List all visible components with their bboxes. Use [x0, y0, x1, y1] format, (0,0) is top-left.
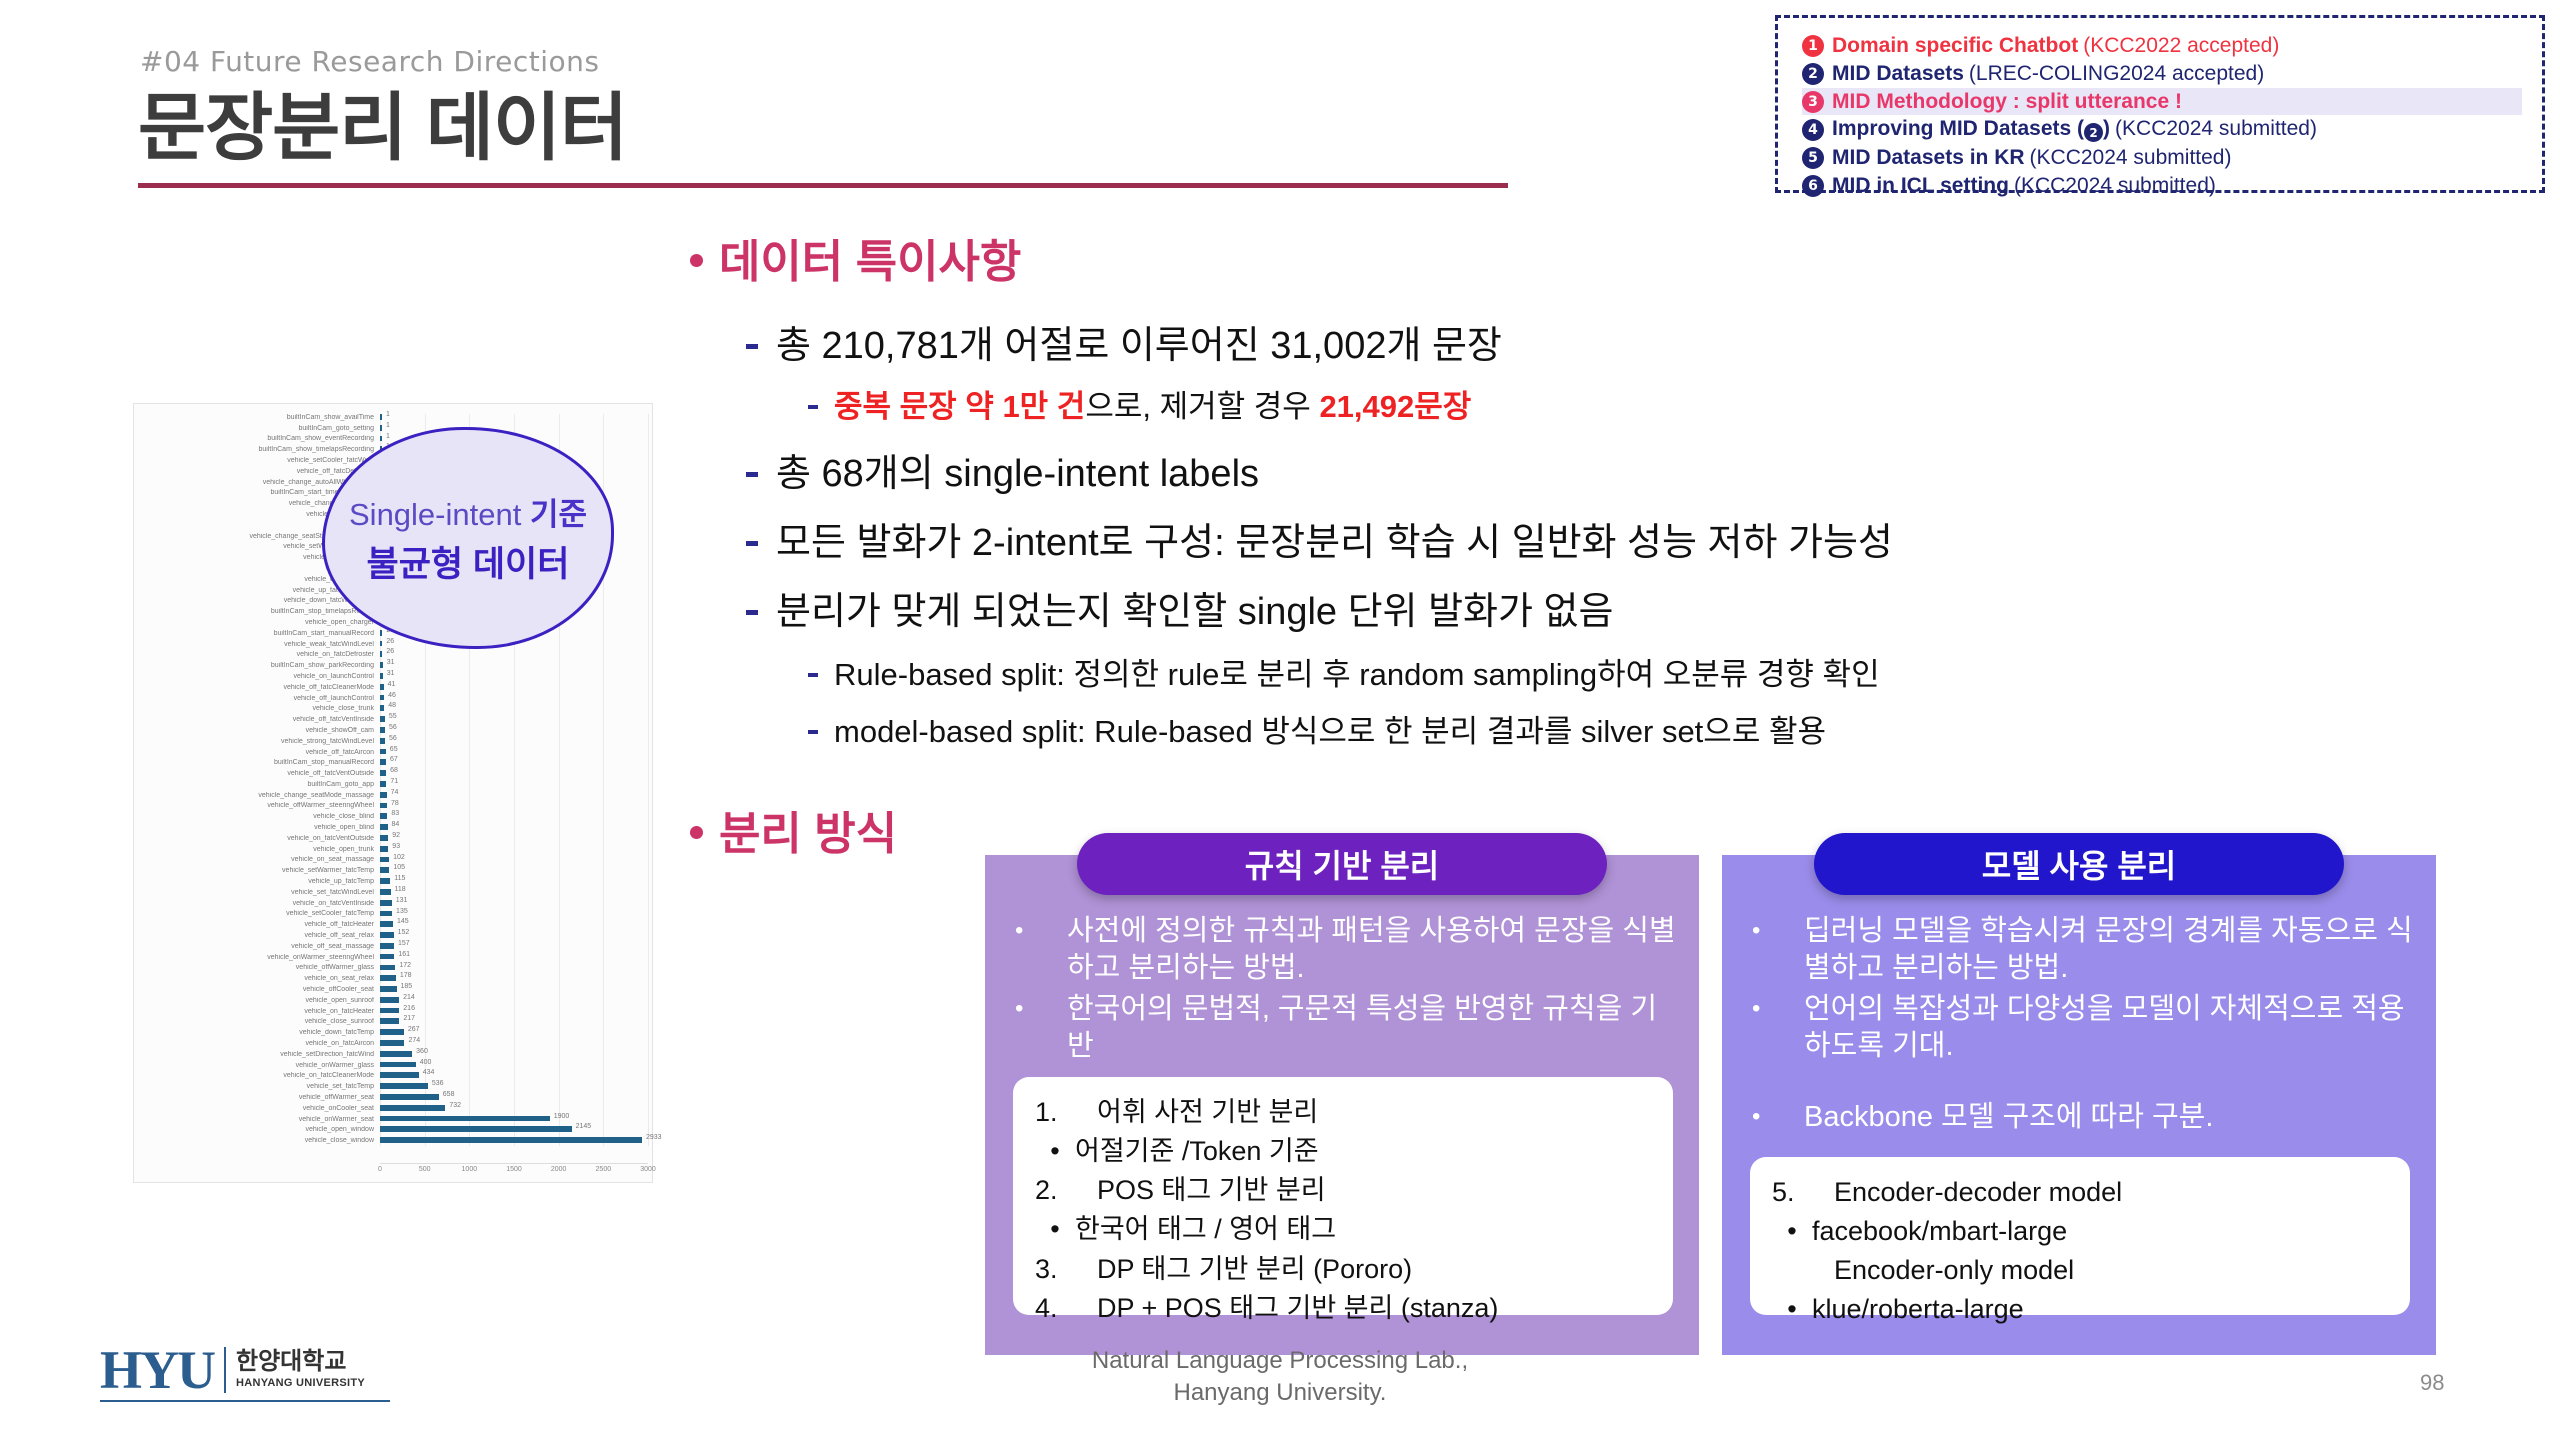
chart-bar-value: 274 — [408, 1037, 420, 1044]
chart-bar-label: builtInCam_stop_timelapsRecord — [134, 608, 380, 615]
chart-bar-value: 46 — [388, 692, 396, 699]
chart-bar — [380, 911, 392, 917]
bubble-en: Single-intent — [349, 497, 530, 532]
section1-label: 데이터 특이사항 — [719, 225, 1021, 290]
chart-bar-track: 48 — [380, 703, 652, 714]
panel-bullet: •언어의 복잡성과 다양성을 모델이 자체적으로 적용하도록 기대. — [1752, 991, 2416, 1065]
legend-item-label: MID in ICL setting(KCC2024 submitted) — [1832, 174, 2216, 198]
chart-bar — [380, 1008, 399, 1014]
legend-item-label: MID Datasets in KR(KCC2024 submitted) — [1832, 146, 2231, 170]
chart-bar-label: vehicle_open_charger — [134, 619, 380, 626]
chart-bar-value: 214 — [403, 994, 415, 1001]
chart-bar — [380, 965, 395, 971]
dash-icon — [746, 541, 758, 546]
bullet-two-intent: 모든 발화가 2-intent로 구성: 문장분리 학습 시 일반화 성능 저하… — [746, 511, 2490, 566]
chart-bar-row: vehicle_open_window2145 — [134, 1124, 652, 1135]
chart-bar-label: vehicle_off_seat_massage — [134, 943, 380, 950]
chart-bar — [380, 878, 390, 884]
chart-bar — [380, 1105, 445, 1111]
chart-bar — [380, 684, 384, 690]
chart-bar-value: 78 — [391, 800, 399, 807]
bullet-dot-icon: • — [1035, 1210, 1075, 1249]
chart-bar-value: 67 — [390, 756, 398, 763]
chart-bar — [380, 695, 384, 701]
chart-bar-label: builtInCam_start_manualRecord — [134, 630, 380, 637]
chart-bar-value: 145 — [397, 918, 409, 925]
chart-bar-value: 185 — [401, 983, 413, 990]
chart-bar-label: builtInCam_show_eventRecording — [134, 435, 380, 442]
chart-bar — [380, 857, 389, 863]
hyu-logo: HYU 한양대학교 HANYANG UNIVERSITY — [100, 1340, 390, 1402]
chart-bar-value: 1900 — [554, 1113, 570, 1120]
panel-bullet: •사전에 정의한 규칙과 패턴을 사용하여 문장을 식별하고 분리하는 방법. — [1015, 913, 1679, 987]
chart-bar — [380, 1051, 412, 1057]
chart-bar-label: vehicle_on_fatcCleanerMode — [134, 1072, 380, 1079]
chart-bar-value: 118 — [395, 886, 406, 893]
chart-bar — [380, 824, 388, 830]
chart-bar-track: 152 — [380, 930, 652, 941]
chart-bar-row: vehicle_onCooler_seat732 — [134, 1103, 652, 1114]
chart-bar — [380, 943, 394, 949]
chart-bar-track: 135 — [380, 909, 652, 920]
chart-bar — [380, 997, 399, 1003]
chart-x-ticks: 050010001500200025003000 — [380, 1166, 648, 1180]
chart-x-tick-label: 500 — [419, 1166, 431, 1173]
chart-bar — [380, 1137, 642, 1143]
chart-bar-label: vehicle_set_fatcWindLevel — [134, 889, 380, 896]
chart-bar-track: 161 — [380, 952, 652, 963]
chart-bar-value: 115 — [394, 875, 405, 882]
chart-bar-row: vehicle_close_sunroof217 — [134, 1016, 652, 1027]
legend-item-note: (KCC2024 submitted) — [2030, 146, 2232, 169]
chart-bar — [380, 436, 382, 442]
chart-bar-label: vehicle_down_fatcWindLevel — [134, 597, 380, 604]
legend-item-note: (KCC2024 submitted) — [2014, 174, 2216, 197]
chart-bar-track: 157 — [380, 941, 652, 952]
chart-bar-label: vehicle_setWarmer_fatcTemp — [134, 867, 380, 874]
footer-lab-credit: Natural Language Processing Lab., Hanyan… — [1040, 1345, 1520, 1410]
chart-bar-label: vehicle_close_sunroof — [134, 1018, 380, 1025]
chart-bar-label: vehicle_change_seatMode_massage — [134, 792, 380, 799]
chart-bar-value: 152 — [398, 929, 410, 936]
chart-bar-value: 48 — [388, 702, 396, 709]
panel-rule-method-list: 1.어휘 사전 기반 분리•어절기준 /Token 기준2.POS 태그 기반 … — [1013, 1077, 1673, 1315]
chart-bar-value: 400 — [420, 1059, 432, 1066]
chart-bar-label: vehicle_offCooler_seat — [134, 986, 380, 993]
chart-x-axis — [380, 1163, 648, 1164]
chart-bar-row: vehicle_open_sunroof214 — [134, 995, 652, 1006]
method-index: 4. — [1035, 1289, 1097, 1328]
chart-bar-value: 2145 — [576, 1123, 592, 1130]
legend-number-badge-icon: 4 — [1802, 119, 1824, 141]
chart-bar — [380, 986, 397, 992]
chart-bar-label: builtInCam_stop_manualRecord — [134, 759, 380, 766]
chart-bar-track: 214 — [380, 995, 652, 1006]
chart-bar-row: vehicle_on_fatcCleanerMode434 — [134, 1070, 652, 1081]
bubble-line-2: 불균형 데이터 — [367, 536, 570, 587]
bullet-dot-icon: • — [1772, 1212, 1812, 1251]
bullet-model-based-split: model-based split: Rule-based 방식으로 한 분리 … — [808, 706, 2490, 751]
chart-bar-track: 131 — [380, 898, 652, 909]
chart-bar-label: vehicle_open_trunk — [134, 846, 380, 853]
chart-x-tick-label: 2500 — [596, 1166, 612, 1173]
chart-bar-track: 434 — [380, 1070, 652, 1081]
chart-bar-row: vehicle_offWarmer_glass172 — [134, 963, 652, 974]
chart-bar-track: 65 — [380, 747, 652, 758]
chart-bar-row: vehicle_setDirection_fatcWind360 — [134, 1049, 652, 1060]
chart-bar-label: vehicle_on_fatcDefroster — [134, 651, 380, 658]
chart-bar-value: 105 — [393, 864, 405, 871]
chart-bar-track: 172 — [380, 963, 652, 974]
chart-bar-label: builtInCam_goto_setting — [134, 425, 380, 432]
method-sub-item: •klue/roberta-large — [1772, 1290, 2388, 1329]
chart-bar-label: vehicle_open_blind — [134, 824, 380, 831]
chart-bar-label: vehicle_on_fatcVentInside — [134, 900, 380, 907]
legend-item-label: MID Datasets(LREC-COLING2024 accepted) — [1832, 62, 2264, 86]
chart-bar-row: vehicle_onWarmer_steeringWheel161 — [134, 952, 652, 963]
chart-bar-label: vehicle_close_window — [134, 1137, 380, 1144]
page-number: 98 — [2420, 1370, 2444, 1396]
method-label: DP + POS 태그 기반 분리 (stanza) — [1097, 1289, 1498, 1328]
chart-bar-track: 105 — [380, 865, 652, 876]
chart-bar — [380, 1029, 404, 1035]
chart-bar-track: 1900 — [380, 1114, 652, 1125]
chart-bar-row: builtInCam_show_availTime1 — [134, 412, 652, 423]
hyu-name-en: HANYANG UNIVERSITY — [236, 1377, 365, 1389]
bullet-text: 분리가 맞게 되었는지 확인할 single 단위 발화가 없음 — [776, 580, 1613, 635]
chart-bar-label: vehicle_onCooler_seat — [134, 1105, 380, 1112]
bullet-dot-icon: • — [1752, 991, 1804, 1065]
bullet-dot-icon: • — [1752, 913, 1804, 987]
bullet-text: 총 210,781개 어절로 이루어진 31,002개 문장 — [776, 314, 1502, 369]
hyu-wordmark: HYU — [100, 1343, 214, 1397]
chart-bar-value: 1 — [386, 433, 390, 440]
chart-bar-track: 31 — [380, 671, 652, 682]
chart-bar-track: 84 — [380, 822, 652, 833]
legend-item-note: (KCC2022 accepted) — [2083, 34, 2279, 57]
chart-bar-label: vehicle_showOff_cam — [134, 727, 380, 734]
chart-bar-label: vehicle_strong_fatcWindLevel — [134, 738, 380, 745]
chart-bar-label: builtInCam_goto_app — [134, 781, 380, 788]
chart-bar-track: 71 — [380, 779, 652, 790]
legend-item-1: 1Domain specific Chatbot(KCC2022 accepte… — [1802, 32, 2522, 59]
chart-bar-value: 216 — [403, 1005, 415, 1012]
legend-item-3: 3MID Methodology : split utterance ! — [1802, 88, 2522, 115]
chart-bar-value: 93 — [392, 843, 400, 850]
chart-bar-track: 56 — [380, 736, 652, 747]
method-label: DP 태그 기반 분리 (Pororo) — [1097, 1250, 1412, 1289]
panel-model-bullets: •딥러닝 모델을 학습시켜 문장의 경계를 자동으로 식별하고 분리하는 방법.… — [1752, 913, 2416, 1141]
chart-bar — [380, 1094, 439, 1100]
panel-bullet-text: 한국어의 문법적, 구문적 특성을 반영한 규칙을 기반 — [1067, 991, 1679, 1065]
chart-bar-track: 1 — [380, 412, 652, 423]
method-label: Encoder-decoder model — [1834, 1173, 2122, 1212]
chart-bar-value: 1 — [386, 411, 390, 418]
chart-bar — [380, 975, 396, 981]
chart-bar — [380, 1062, 416, 1068]
body-content: 데이터 특이사항 총 210,781개 어절로 이루어진 31,002개 문장 … — [690, 225, 2490, 862]
chart-bar-label: vehicle_onWarmer_steeringWheel — [134, 954, 380, 961]
bullet-text: model-based split: Rule-based 방식으로 한 분리 … — [834, 706, 1826, 751]
chart-bar-track: 536 — [380, 1081, 652, 1092]
bullet-dot-icon — [690, 826, 703, 839]
chart-bar — [380, 889, 391, 895]
panel-bullet-text: 딥러닝 모델을 학습시켜 문장의 경계를 자동으로 식별하고 분리하는 방법. — [1804, 913, 2416, 987]
chart-bar-track: 67 — [380, 757, 652, 768]
chart-bar-value: 1 — [386, 422, 390, 429]
bullet-dot-icon — [690, 254, 703, 267]
chart-bar-label: vehicle_off_seat_relax — [134, 932, 380, 939]
chart-x-tick-label: 1500 — [506, 1166, 522, 1173]
chart-bar-row: vehicle_up_fatcTemp115 — [134, 876, 652, 887]
legend-number-badge-icon: 6 — [1802, 175, 1824, 197]
dash-icon — [746, 472, 758, 477]
chart-bar-track: 68 — [380, 768, 652, 779]
bullet-rule-based-split: Rule-based split: 정의한 rule로 분리 후 random … — [808, 649, 2490, 694]
bullet-dot-icon: • — [1772, 1290, 1812, 1329]
chart-bar-value: 131 — [396, 897, 408, 904]
chart-bar-label: vehicle_on_seat_relax — [134, 975, 380, 982]
chart-bar — [380, 900, 392, 906]
chart-bar — [380, 673, 383, 679]
chart-bar — [380, 921, 393, 927]
chart-bar-row: vehicle_setCooler_fatcTemp135 — [134, 909, 652, 920]
chart-bar-label: vehicle_off_fatcAircon — [134, 749, 380, 756]
dup-count: 중복 문장 약 1만 건 — [834, 389, 1085, 424]
legend-item-label: MID Methodology : split utterance ! — [1832, 90, 2182, 114]
chart-bar — [380, 1126, 572, 1132]
method-index: 5. — [1772, 1173, 1834, 1212]
chart-bar-track: 2933 — [380, 1135, 652, 1146]
bullet-intent-labels: 총 68개의 single-intent labels — [746, 442, 2490, 497]
chart-bar-label: vehicle_on_fatcVentOutside — [134, 835, 380, 842]
chart-bar-track: 93 — [380, 844, 652, 855]
panel-bullet-text: Backbone 모델 구조에 따라 구분. — [1804, 1099, 2416, 1136]
hyu-name-kr: 한양대학교 — [236, 1348, 346, 1375]
chart-bar-label: vehicle_offWarmer_glass — [134, 964, 380, 971]
chart-bar-value: 31 — [387, 659, 395, 666]
chart-bar-label: vehicle_on_launchControl — [134, 673, 380, 680]
method-sub-label: 한국어 태그 / 영어 태그 — [1075, 1210, 1336, 1249]
chart-bar-value: 536 — [432, 1080, 444, 1087]
panel-rule-bullets: •사전에 정의한 규칙과 패턴을 사용하여 문장을 식별하고 분리하는 방법.•… — [1015, 913, 1679, 1069]
chart-bar — [380, 803, 387, 809]
chart-x-tick-label: 3000 — [640, 1166, 656, 1173]
legend-item-label: Improving MID Datasets (2)(KCC2024 submi… — [1832, 117, 2317, 143]
method-index: 1. — [1035, 1093, 1097, 1132]
chart-bar-track: 118 — [380, 887, 652, 898]
chart-bar-row: vehicle_set_fatcWindLevel118 — [134, 887, 652, 898]
chart-bar-track: 400 — [380, 1060, 652, 1071]
chart-bar — [380, 781, 386, 787]
chart-bar — [380, 954, 394, 960]
bullet-dot-icon: • — [1035, 1132, 1075, 1171]
chart-bar-label: vehicle_off_launchControl — [134, 695, 380, 702]
dash-icon — [808, 730, 818, 734]
chart-x-tick-label: 1000 — [462, 1166, 478, 1173]
chart-bar — [380, 1072, 419, 1078]
bullet-no-single-unit: 분리가 맞게 되었는지 확인할 single 단위 발화가 없음 — [746, 580, 2490, 635]
chart-bar-row: vehicle_on_fatcAircon274 — [134, 1038, 652, 1049]
chart-bar-label: vehicle_close_blind — [134, 813, 380, 820]
chart-bar-row: vehicle_offWarmer_seat658 — [134, 1092, 652, 1103]
method-numbered-item: 1.어휘 사전 기반 분리 — [1035, 1093, 1651, 1132]
section-title-data-notes: 데이터 특이사항 — [690, 225, 2490, 290]
method-label: 어휘 사전 기반 분리 — [1097, 1093, 1318, 1132]
chart-bar-row: vehicle_close_window2933 — [134, 1135, 652, 1146]
dash-icon — [808, 405, 818, 409]
chart-bar-track: 115 — [380, 876, 652, 887]
chart-bar-label: vehicle_on_seat_massage — [134, 856, 380, 863]
legend-item-4: 4Improving MID Datasets (2)(KCC2024 subm… — [1802, 116, 2522, 143]
chart-bar-track: 26 — [380, 649, 652, 660]
chart-bar-label: vehicle_off_fatcDefroster — [134, 468, 380, 475]
chart-bar-label: vehicle_up_fatcTemp — [134, 878, 380, 885]
bullet-duplicate-sentences: 중복 문장 약 1만 건으로, 제거할 경우 21,492문장 — [808, 381, 2490, 426]
chart-bar-label: vehicle_close_trunk — [134, 705, 380, 712]
panel-model-method-list: 5.Encoder-decoder model•facebook/mbart-l… — [1750, 1157, 2410, 1315]
chart-bar-track: 56 — [380, 725, 652, 736]
chart-bar-label: vehicle_open_sunroof — [134, 997, 380, 1004]
dup-mid: 으로, 제거할 경우 — [1085, 389, 1319, 424]
chart-bar — [380, 641, 382, 647]
chart-bar-value: 26 — [386, 638, 394, 645]
method-sub-item: •facebook/mbart-large — [1772, 1212, 2388, 1251]
chart-bar — [380, 705, 384, 711]
chart-bar-value: 31 — [387, 670, 395, 677]
chart-bar-value: 360 — [416, 1048, 428, 1055]
chart-bar-track: 31 — [380, 660, 652, 671]
chart-bar-row: vehicle_on_fatcVentInside131 — [134, 898, 652, 909]
chart-bar-label: vehicle_weak_fatcWindLevel — [134, 641, 380, 648]
chart-bar-label: vehicle_onWarmer_seat — [134, 1116, 380, 1123]
chart-bar-row: vehicle_setWarmer_fatcTemp105 — [134, 865, 652, 876]
method-numbered-item: 2.POS 태그 기반 분리 — [1035, 1171, 1651, 1210]
chart-bar-value: 135 — [396, 908, 408, 915]
chart-bar-value: 434 — [423, 1069, 435, 1076]
legend-item-note: (KCC2024 submitted) — [2115, 117, 2317, 140]
chart-bar-row: vehicle_off_seat_massage157 — [134, 941, 652, 952]
chart-bar-value: 84 — [392, 821, 400, 828]
method-sub-label: klue/roberta-large — [1812, 1290, 2024, 1329]
panel-bullet: •딥러닝 모델을 학습시켜 문장의 경계를 자동으로 식별하고 분리하는 방법. — [1752, 913, 2416, 987]
bullet-text: 모든 발화가 2-intent로 구성: 문장분리 학습 시 일반화 성능 저하… — [776, 511, 1893, 566]
chart-bar-row: vehicle_onWarmer_seat1900 — [134, 1114, 652, 1125]
panel-rule-header: 규칙 기반 분리 — [1077, 833, 1607, 895]
panel-rule-based-split: 규칙 기반 분리 •사전에 정의한 규칙과 패턴을 사용하여 문장을 식별하고 … — [985, 855, 1699, 1355]
bullet-dot-icon: • — [1015, 991, 1067, 1065]
panel-model-header: 모델 사용 분리 — [1814, 833, 2344, 895]
chart-bar-label: vehicle_down_fatcTemp — [134, 1029, 380, 1036]
dash-icon — [746, 610, 758, 615]
chart-bar-track: 217 — [380, 1016, 652, 1027]
chart-bar — [380, 770, 386, 776]
chart-bar-row: vehicle_off_fatcHeater145 — [134, 919, 652, 930]
chart-bar-track: 658 — [380, 1092, 652, 1103]
chart-bar-track: 145 — [380, 919, 652, 930]
method-label: POS 태그 기반 분리 — [1097, 1171, 1326, 1210]
chart-bar-row: builtInCam_goto_setting1 — [134, 423, 652, 434]
chart-bar-value: 56 — [389, 724, 397, 731]
chart-bar-label: vehicle_offWarmer_steeringWheel — [134, 802, 380, 809]
chart-bar-row: vehicle_down_fatcTemp267 — [134, 1027, 652, 1038]
legend-item-5: 5MID Datasets in KR(KCC2024 submitted) — [1802, 144, 2522, 171]
bullet-text: 총 68개의 single-intent labels — [776, 442, 1259, 497]
chart-bar-row: vehicle_on_fatcHeater216 — [134, 1006, 652, 1017]
chart-bar-label: vehicle_setCooler_fatcTemp — [134, 910, 380, 917]
chart-bar — [380, 1040, 404, 1046]
chart-bar-track: 41 — [380, 682, 652, 693]
chart-bar-label: vehicle_off_fatcVentInside — [134, 716, 380, 723]
dash-icon — [808, 673, 818, 677]
chart-bar-value: 172 — [399, 962, 411, 969]
chart-bar-label: vehicle_off_fatcHeater — [134, 921, 380, 928]
method-index: 3. — [1035, 1250, 1097, 1289]
chart-bar — [380, 792, 387, 798]
method-plain-item: Encoder-only model — [1772, 1251, 2388, 1290]
chart-bar-track: 46 — [380, 693, 652, 704]
bullet-text: Rule-based split: 정의한 rule로 분리 후 random … — [834, 649, 1880, 694]
chart-bar-track: 732 — [380, 1103, 652, 1114]
method-numbered-item: 4.DP + POS 태그 기반 분리 (stanza) — [1035, 1289, 1651, 1328]
chart-bar-label: vehicle_on_fatcHeater — [134, 1008, 380, 1015]
page-title: 문장분리 데이터 — [138, 68, 627, 175]
chart-bar-value: 65 — [390, 746, 398, 753]
method-sub-item: •한국어 태그 / 영어 태그 — [1035, 1210, 1651, 1249]
chart-bar-label: builtInCam_show_availTime — [134, 414, 380, 421]
chart-bar-label: vehicle_open_window — [134, 1126, 380, 1133]
panel-bullet: •한국어의 문법적, 구문적 특성을 반영한 규칙을 기반 — [1015, 991, 1679, 1065]
chart-bar — [380, 662, 383, 668]
chart-bar — [380, 414, 382, 420]
method-sub-label: facebook/mbart-large — [1812, 1212, 2067, 1251]
chart-bar — [380, 835, 388, 841]
chart-bar-track: 74 — [380, 790, 652, 801]
legend-number-badge-icon: 1 — [1802, 35, 1824, 57]
chart-bar-track: 185 — [380, 984, 652, 995]
chart-bar-value: 26 — [386, 648, 394, 655]
logo-divider — [224, 1347, 226, 1393]
title-underline — [138, 183, 1508, 188]
chart-bar-label: builtInCam_show_parkRecording — [134, 662, 380, 669]
chart-bar-value: 68 — [390, 767, 398, 774]
chart-bar — [380, 651, 382, 657]
method-index: 2. — [1035, 1171, 1097, 1210]
method-sub-item: •어절기준 /Token 기준 — [1035, 1132, 1651, 1171]
dash-icon — [746, 344, 758, 349]
chart-bar-value: 55 — [389, 713, 397, 720]
chart-bar — [380, 813, 387, 819]
panel-bullet-text: 사전에 정의한 규칙과 패턴을 사용하여 문장을 식별하고 분리하는 방법. — [1067, 913, 1679, 987]
chart-bar — [380, 932, 394, 938]
chart-bar-value: 658 — [443, 1091, 455, 1098]
legend-number-badge-icon: 3 — [1802, 91, 1824, 113]
chart-bar — [380, 867, 389, 873]
chart-bar-row: vehicle_onWarmer_glass400 — [134, 1060, 652, 1071]
method-numbered-item: 5.Encoder-decoder model — [1772, 1173, 2388, 1212]
chart-bar-track: 2145 — [380, 1124, 652, 1135]
legend-item-6: 6MID in ICL setting(KCC2024 submitted) — [1802, 172, 2522, 199]
chart-bar — [380, 749, 386, 755]
method-sub-label: 어절기준 /Token 기준 — [1075, 1132, 1319, 1171]
chart-bar-label: vehicle_on_fatcAircon — [134, 1040, 380, 1047]
chart-bar-label: vehicle_setCooler_fatcWind — [134, 457, 380, 464]
legend-inline-badge-icon: 2 — [2084, 123, 2103, 142]
chart-bar-label: vehicle_set_fatcTemp — [134, 1083, 380, 1090]
chart-bar-value: 157 — [398, 940, 410, 947]
chart-bar-row: vehicle_offCooler_seat185 — [134, 984, 652, 995]
chart-bar-value: 83 — [391, 810, 399, 817]
